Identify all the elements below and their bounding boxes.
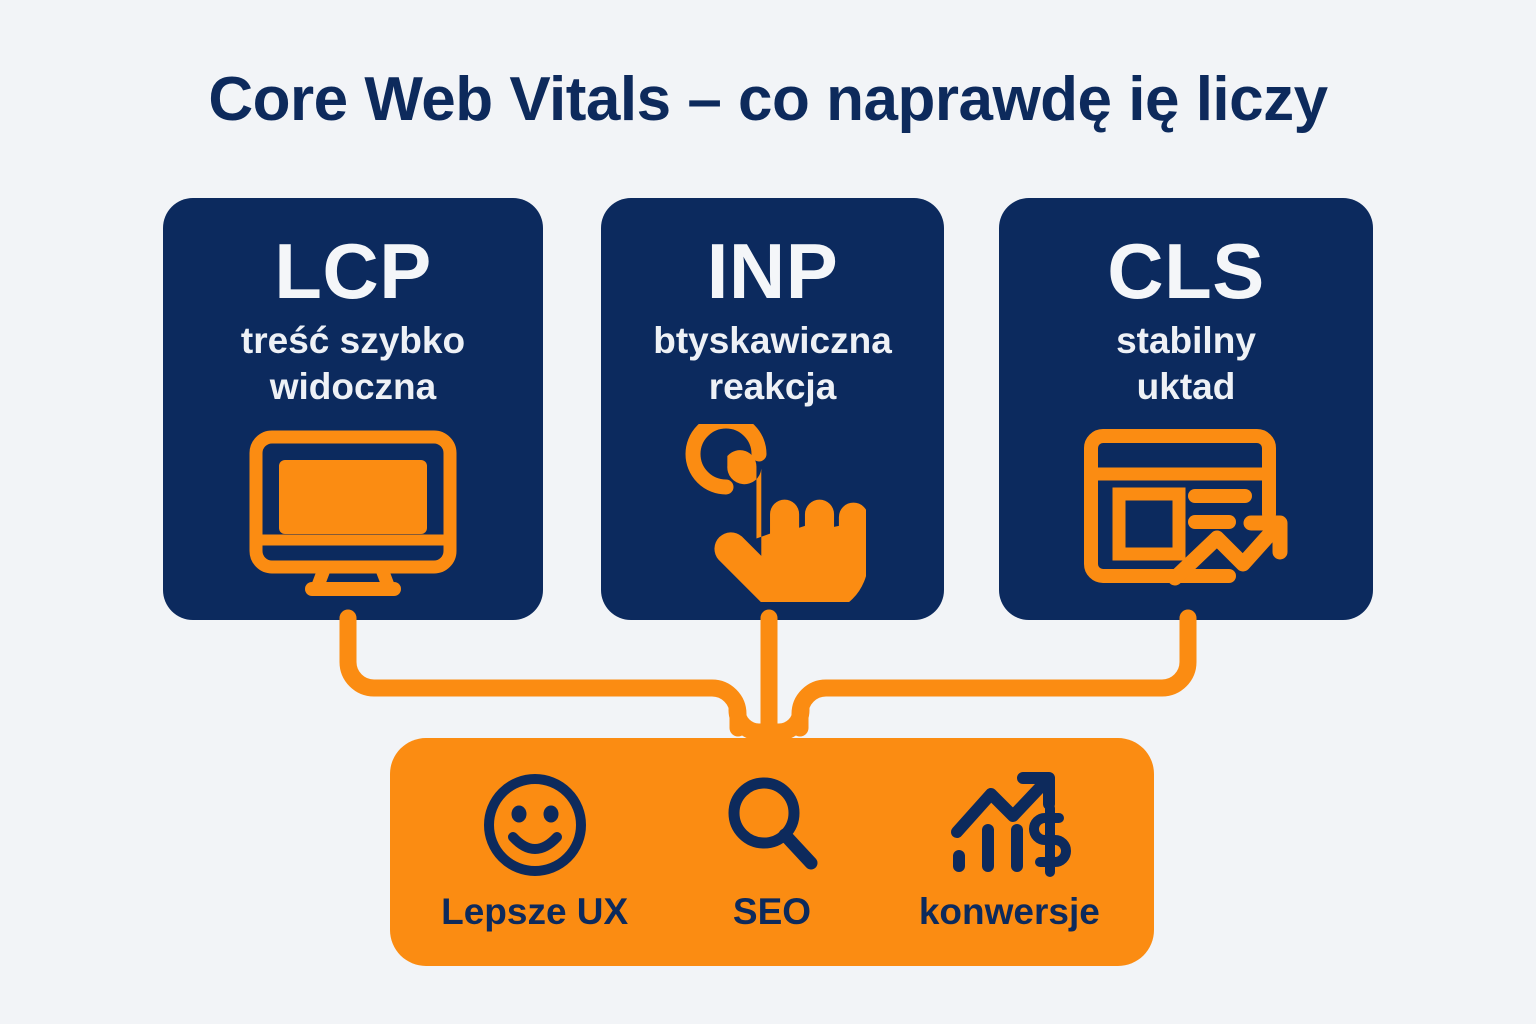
smiley-face-icon [479,771,591,879]
connector-path-lcp [348,618,738,728]
page-title: Core Web Vitals – co naprawdę ię liczy [0,64,1536,135]
metric-abbr-cls: CLS [1107,232,1265,312]
benefit-label-lepsze-ux: Lepsze UX [441,891,628,933]
metric-card-inp: INP btyskawiczna reakcja [601,198,944,620]
benefit-lepsze-ux: Lepsze UX [417,771,652,933]
metric-description-cls: stabilny uktad [1116,318,1256,411]
infographic-canvas: Core Web Vitals – co naprawdę ię liczy L… [0,0,1536,1024]
benefit-konwersje: konwersje [892,771,1127,933]
metric-description-lcp: treść szybko widoczna [241,318,465,411]
metric-abbr-inp: INP [707,232,839,312]
benefit-label-konwersje: konwersje [919,891,1100,933]
metric-card-lcp: LCP treść szybko widoczna [163,198,543,620]
benefits-bar: Lepsze UX SEO [390,738,1154,966]
metric-abbr-lcp: LCP [274,232,432,312]
growth-dollar-icon [947,771,1071,879]
click-hand-icon [601,424,944,602]
benefit-label-seo: SEO [733,891,811,933]
benefit-seo: SEO [655,771,890,933]
metric-card-cls: CLS stabilny uktad [999,198,1373,620]
connector-path-cls [800,618,1188,728]
magnifier-icon [716,771,828,879]
metric-description-inp: btyskawiczna reakcja [653,318,892,411]
layout-chart-icon [999,426,1373,602]
monitor-icon [163,428,543,602]
